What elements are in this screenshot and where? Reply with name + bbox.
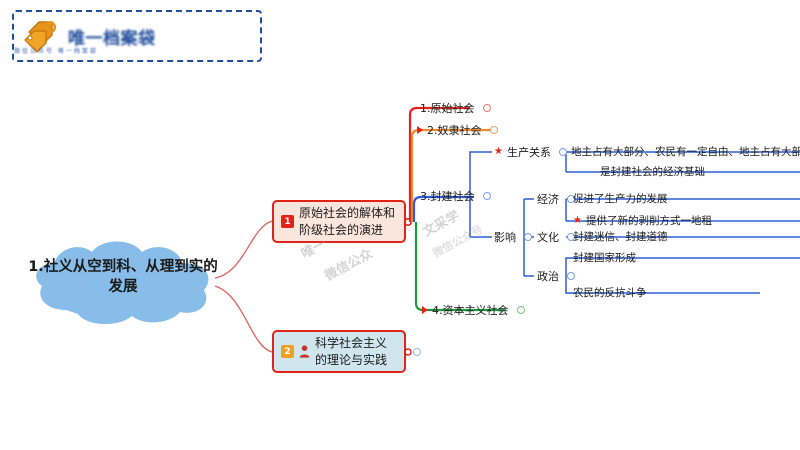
impact-item-economy-1-text: 促进了生产力的发展	[573, 191, 668, 206]
mindmap-canvas: 唯一档案袋 微信公众号 唯一档案袋	[0, 0, 800, 450]
society-node-primitive-toggle[interactable]	[483, 104, 491, 112]
impact-item-culture-1-text: 封建迷信、封建道德	[573, 229, 668, 244]
feudal-impact-node[interactable]: 影响	[494, 229, 532, 245]
impact-item-politics-1: 封建国家形成	[573, 250, 636, 265]
feudal-relations-note: 是封建社会的经济基础	[600, 164, 705, 179]
impact-item-politics-2: 农民的反抗斗争	[573, 285, 647, 300]
society-node-primitive-label: 1.原始社会	[420, 100, 475, 116]
impact-item-politics-1-text: 封建国家形成	[573, 250, 636, 265]
society-node-capitalist-toggle[interactable]	[517, 306, 525, 314]
root-node[interactable]: 1.社义从空到科、从理到实的发展	[28, 236, 218, 328]
person-icon	[299, 345, 310, 358]
feudal-impact-toggle[interactable]	[524, 233, 532, 241]
society-node-slave[interactable]: 2.奴隶社会	[417, 122, 498, 138]
impact-item-economy-2-text: 提供了新的剥削方式一地租	[586, 213, 712, 228]
impact-group-culture-label: 文化	[537, 229, 559, 245]
society-node-slave-toggle[interactable]	[490, 126, 498, 134]
branch-node-original-society[interactable]: 1 原始社会的解体和阶级社会的演进	[272, 200, 406, 243]
society-node-feudal-toggle[interactable]	[483, 192, 491, 200]
triangle-marker-icon	[417, 126, 423, 134]
impact-item-economy-1: 促进了生产力的发展	[573, 191, 668, 206]
impact-group-politics-toggle[interactable]	[567, 272, 575, 280]
star-marker-icon: ★	[494, 147, 503, 157]
feudal-relations-node[interactable]: ★ 生产关系	[494, 144, 567, 160]
feudal-relations-detail: 地主占有大部分、农民有一定自由、地主占有大部分	[571, 144, 800, 159]
society-node-primitive[interactable]: 1.原始社会	[420, 100, 491, 116]
society-node-feudal[interactable]: 3.封建社会	[420, 188, 491, 204]
impact-group-politics-label: 政治	[537, 268, 559, 284]
impact-group-culture[interactable]: 文化	[537, 229, 575, 245]
society-node-capitalist[interactable]: 4.资本主义社会	[422, 302, 525, 318]
impact-item-politics-2-text: 农民的反抗斗争	[573, 285, 647, 300]
impact-group-politics[interactable]: 政治	[537, 268, 575, 284]
branch-node-2-toggle[interactable]	[413, 348, 421, 356]
feudal-relations-note-text: 是封建社会的经济基础	[600, 164, 705, 179]
society-node-capitalist-label: 4.资本主义社会	[432, 302, 509, 318]
feudal-relations-toggle[interactable]	[559, 148, 567, 156]
branch-node-scientific-socialism[interactable]: 2 科学社会主义的理论与实践	[272, 330, 406, 373]
feudal-relations-label: 生产关系	[507, 144, 551, 160]
impact-group-economy[interactable]: 经济	[537, 191, 575, 207]
impact-group-economy-label: 经济	[537, 191, 559, 207]
root-node-label: 1.社义从空到科、从理到实的发展	[28, 258, 218, 297]
feudal-impact-label: 影响	[494, 229, 516, 245]
society-node-slave-label: 2.奴隶社会	[427, 122, 482, 138]
badge-2: 2	[281, 345, 294, 358]
star-marker-icon: ★	[573, 216, 582, 226]
badge-1: 1	[281, 215, 294, 228]
branch-node-2-label: 科学社会主义的理论与实践	[315, 335, 397, 367]
triangle-marker-icon	[422, 306, 428, 314]
branch-node-1-label: 原始社会的解体和阶级社会的演进	[299, 205, 397, 237]
feudal-relations-detail-text: 地主占有大部分、农民有一定自由、地主占有大部分	[571, 144, 800, 159]
society-node-feudal-label: 3.封建社会	[420, 188, 475, 204]
impact-item-culture-1: 封建迷信、封建道德	[573, 229, 668, 244]
impact-item-economy-2: ★ 提供了新的剥削方式一地租	[573, 213, 712, 228]
